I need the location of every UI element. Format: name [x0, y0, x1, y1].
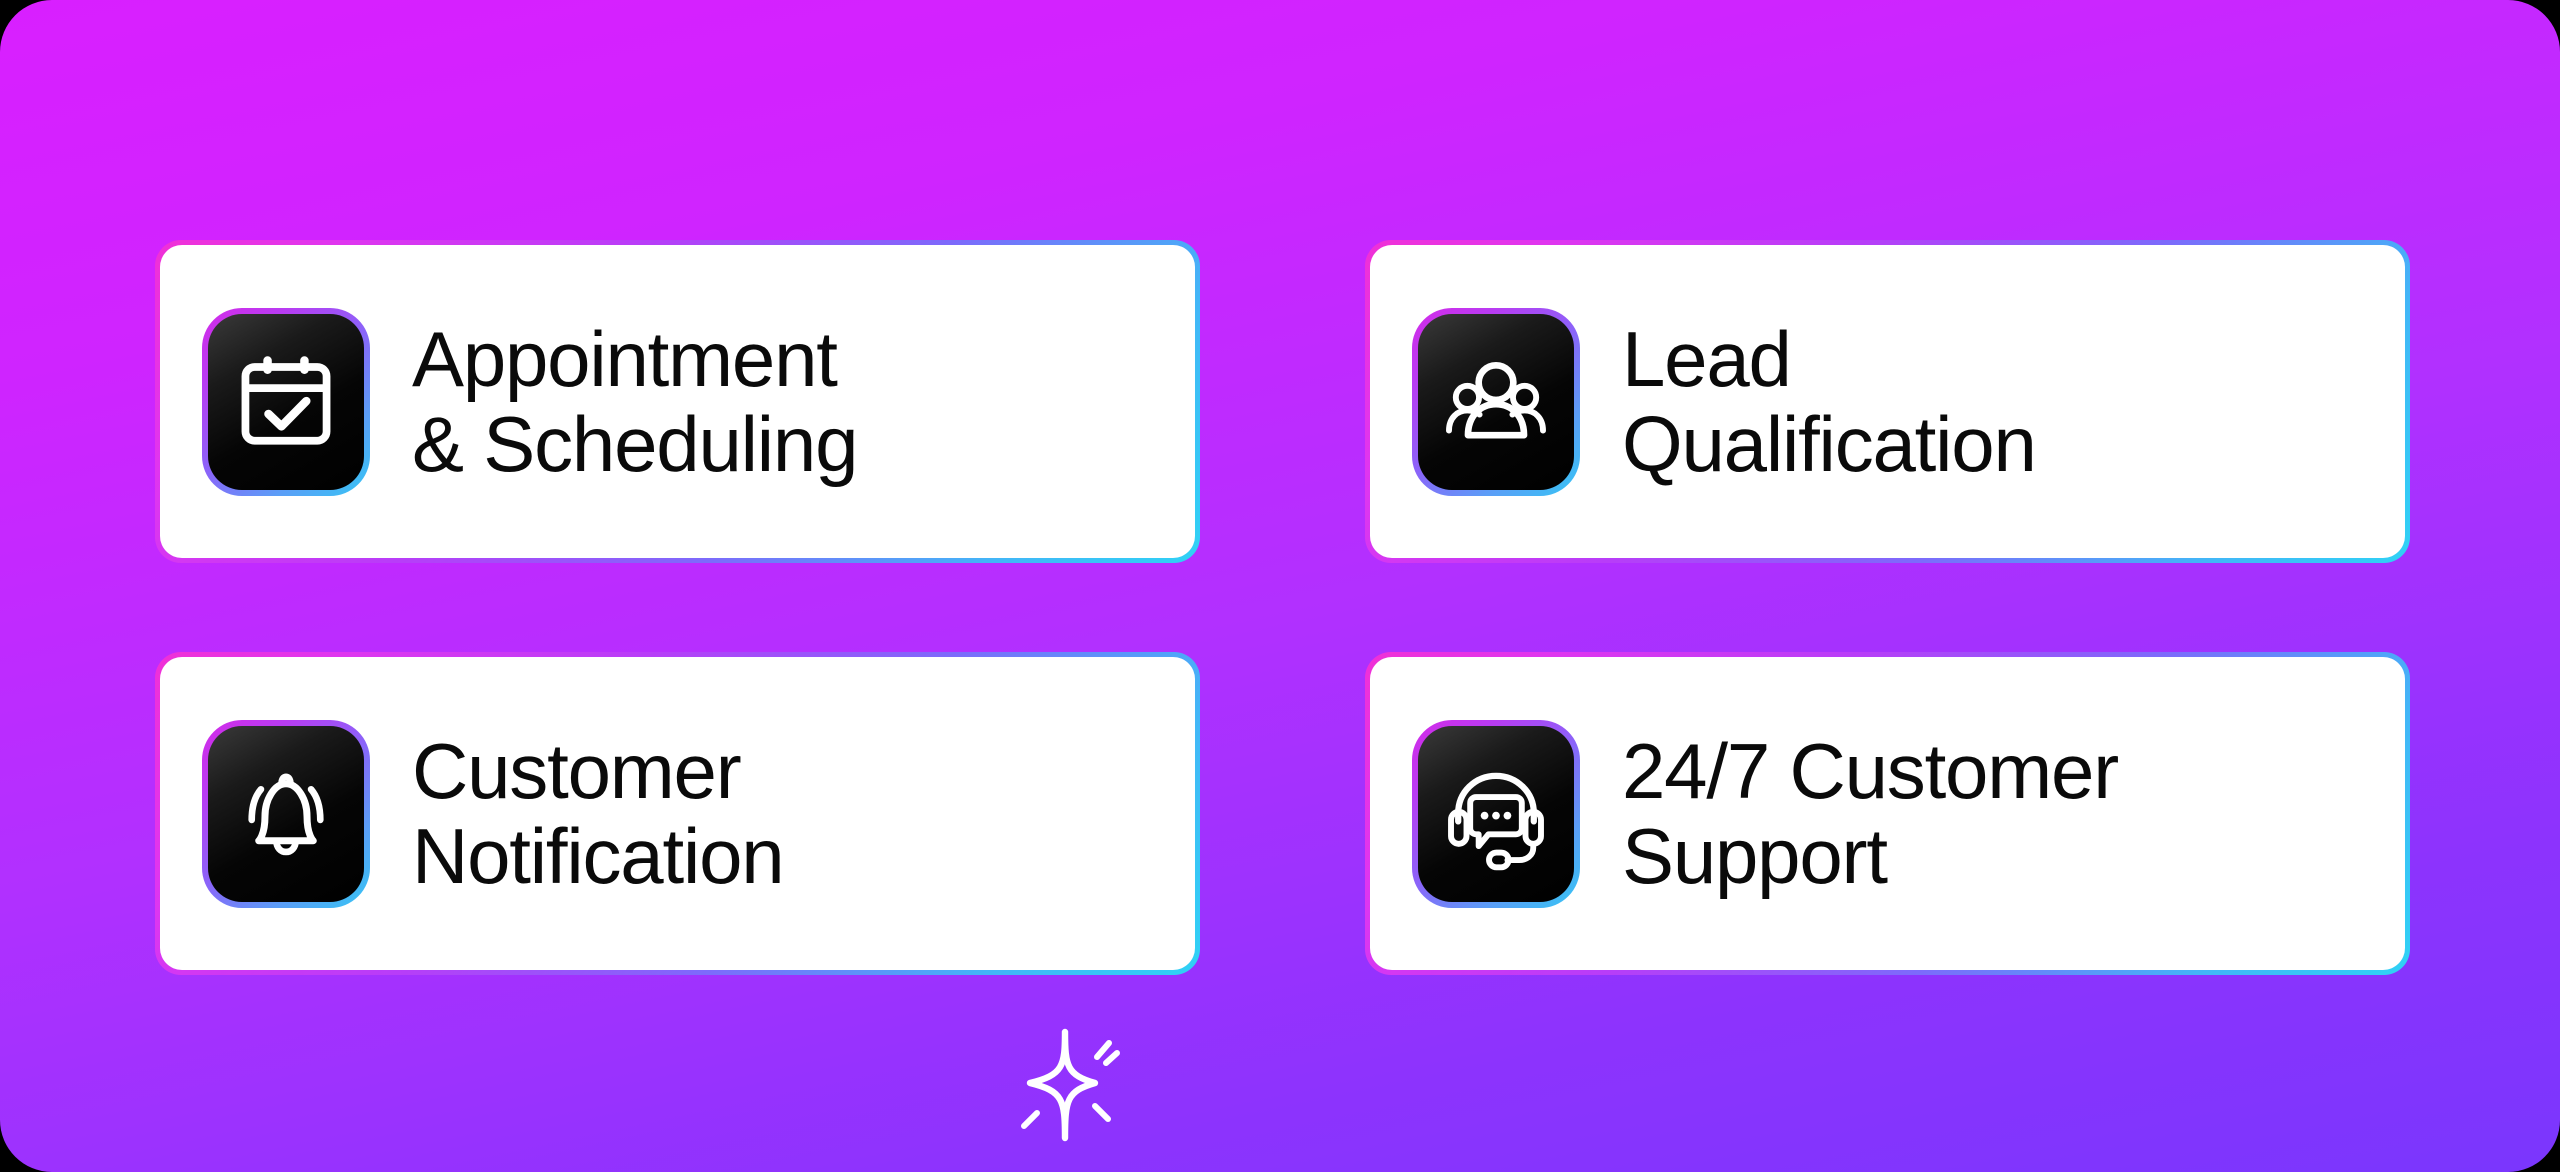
icon-tile	[202, 720, 370, 908]
feature-card-appointment-scheduling[interactable]: Appointment & Scheduling	[155, 240, 1200, 563]
icon-tile	[1412, 720, 1580, 908]
feature-card-grid: Appointment & Scheduling	[155, 240, 2410, 975]
feature-card-customer-notification[interactable]: Customer Notification	[155, 652, 1200, 975]
sparkle-icon	[1000, 1022, 1140, 1152]
feature-card-label: Customer Notification	[412, 729, 783, 897]
feature-card-customer-support[interactable]: 24/7 Customer Support	[1365, 652, 2410, 975]
icon-tile	[202, 308, 370, 496]
card-inner: Customer Notification	[160, 657, 1195, 970]
feature-card-label: Lead Qualification	[1622, 317, 2036, 485]
card-inner: 24/7 Customer Support	[1370, 657, 2405, 970]
headset-chat-icon	[1418, 726, 1574, 902]
people-group-icon	[1418, 314, 1574, 490]
bell-ringing-icon	[208, 726, 364, 902]
feature-cards-banner: Appointment & Scheduling	[0, 0, 2560, 1172]
feature-card-lead-qualification[interactable]: Lead Qualification	[1365, 240, 2410, 563]
card-inner: Lead Qualification	[1370, 245, 2405, 558]
feature-card-label: 24/7 Customer Support	[1622, 729, 2118, 897]
icon-tile	[1412, 308, 1580, 496]
calendar-check-icon	[208, 314, 364, 490]
feature-card-label: Appointment & Scheduling	[412, 317, 857, 485]
card-inner: Appointment & Scheduling	[160, 245, 1195, 558]
